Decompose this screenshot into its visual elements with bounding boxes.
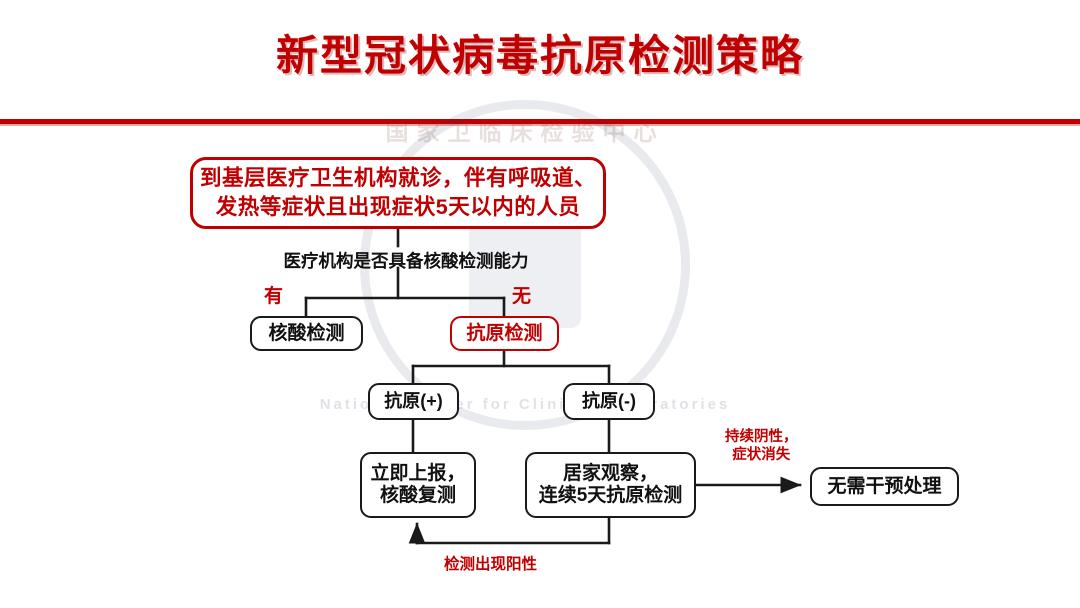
node-antigen-test[interactable]: 抗原检测: [450, 316, 559, 351]
edge-label-persistent-negative: 持续阴性， 症状消失: [725, 428, 798, 464]
node-entry[interactable]: 到基层医疗卫生机构就诊，伴有呼吸道、 发热等症状且出现症状5天以内的人员: [190, 157, 606, 229]
node-antigen-positive[interactable]: 抗原(+): [368, 383, 459, 420]
node-report-and-retest[interactable]: 立即上报， 核酸复测: [360, 452, 476, 518]
label-capability-question: 医疗机构是否具备核酸检测能力: [256, 248, 556, 273]
slide-canvas: 新型冠状病毒抗原检测策略 国家卫临床检验中心 National Center f…: [0, 0, 1080, 608]
edge-label-yes: 有: [264, 285, 283, 309]
edge-label-turns-positive: 检测出现阳性: [444, 555, 537, 574]
node-home-observation[interactable]: 居家观察， 连续5天抗原检测: [525, 452, 696, 518]
node-nucleic-test[interactable]: 核酸检测: [250, 316, 363, 351]
edge-label-no: 无: [512, 285, 531, 309]
node-no-intervention[interactable]: 无需干预处理: [810, 467, 959, 506]
node-antigen-negative[interactable]: 抗原(-): [563, 383, 655, 420]
